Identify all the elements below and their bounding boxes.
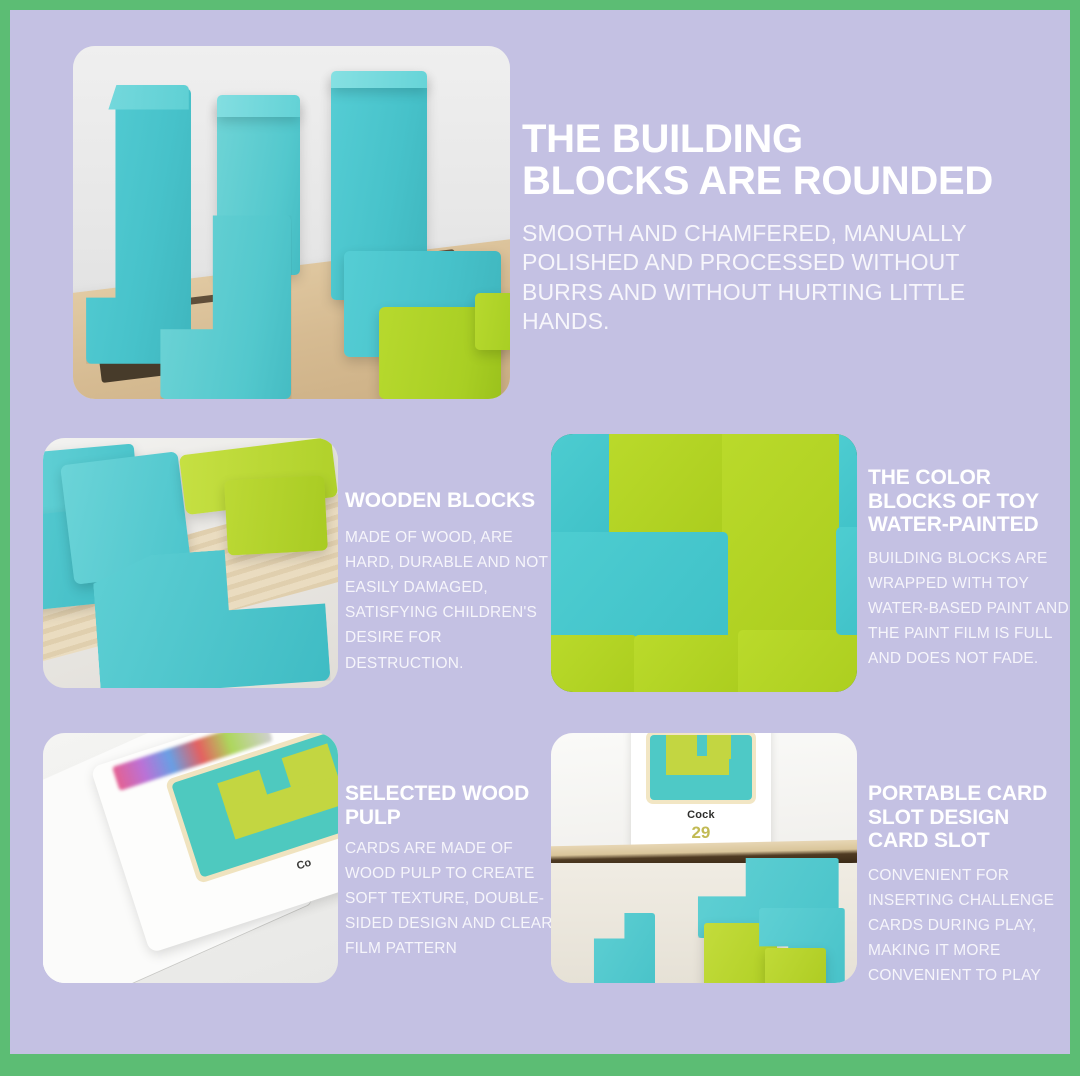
hero-title-line1: THE BUILDING	[522, 118, 1012, 160]
teal-block	[551, 532, 728, 646]
card-label: Cock	[631, 809, 772, 821]
hero-text-group: THE BUILDING BLOCKS ARE ROUNDED SMOOTH A…	[522, 118, 1012, 337]
hero-photo	[73, 46, 510, 399]
hero-title-line2: BLOCKS ARE ROUNDED	[522, 160, 1012, 202]
color-blocks-title: THE COLOR BLOCKS OF TOY WATER-PAINTED	[868, 466, 1068, 537]
card-slot-photo: Cock 29	[551, 733, 857, 983]
green-block	[634, 635, 741, 692]
wooden-blocks-photo	[43, 438, 338, 688]
poster-canvas: THE BUILDING BLOCKS ARE ROUNDED SMOOTH A…	[10, 10, 1070, 1054]
green-block	[475, 293, 510, 349]
wood-pulp-photo: Co	[43, 733, 338, 983]
hero-body-text: SMOOTH AND CHAMFERED, MANUALLY POLISHED …	[522, 219, 1012, 337]
color-blocks-photo	[551, 434, 857, 692]
pattern-shape	[707, 735, 731, 758]
card-number: 29	[631, 823, 772, 843]
inserted-challenge-card: Cock 29	[631, 733, 772, 848]
hero-scene	[73, 46, 510, 399]
wood-pulp-scene: Co	[43, 733, 338, 983]
card-slot-scene: Cock 29	[551, 733, 857, 983]
pattern-shape	[666, 756, 729, 775]
color-blocks-scene	[551, 434, 857, 692]
green-block	[722, 434, 844, 640]
wood-pulp-body: CARDS ARE MADE OF WOOD PULP TO CREATE SO…	[345, 836, 560, 962]
teal-block-highlight	[331, 71, 427, 89]
green-block	[224, 475, 328, 555]
poster-frame: THE BUILDING BLOCKS ARE ROUNDED SMOOTH A…	[0, 0, 1080, 1076]
green-block	[765, 948, 826, 983]
green-block	[609, 434, 725, 537]
teal-block	[836, 527, 857, 635]
green-block	[738, 630, 857, 692]
card-caption: Co	[295, 857, 313, 873]
card-pattern-frame	[646, 733, 756, 804]
wood-pulp-title: SELECTED WOOD PULP	[345, 782, 550, 829]
teal-block-highlight	[217, 95, 300, 116]
card-pattern	[650, 735, 752, 800]
green-block	[551, 635, 637, 692]
card-slot-body: CONVENIENT FOR INSERTING CHALLENGE CARDS…	[868, 863, 1070, 989]
teal-block	[839, 434, 857, 532]
teal-block	[551, 434, 612, 537]
color-blocks-body: BUILDING BLOCKS ARE WRAPPED WITH TOY WAT…	[868, 546, 1070, 672]
wooden-blocks-scene	[43, 438, 338, 688]
card-slot-title: PORTABLE CARD SLOT DESIGN CARD SLOT	[868, 782, 1068, 853]
wooden-blocks-title: WOODEN BLOCKS	[345, 489, 550, 513]
wooden-blocks-body: MADE OF WOOD, ARE HARD, DURABLE AND NOT …	[345, 525, 555, 676]
